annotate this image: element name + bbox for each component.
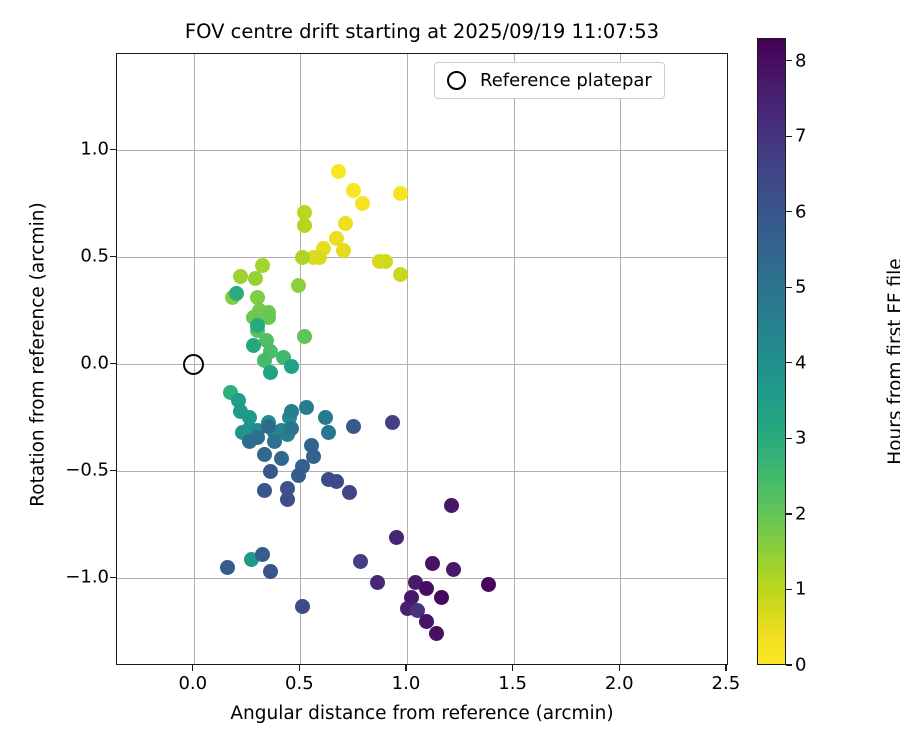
y-tick-label: 0.5 xyxy=(80,246,109,267)
gridline-vertical xyxy=(727,54,728,664)
gridline-horizontal xyxy=(117,471,727,472)
x-tick xyxy=(512,665,513,671)
x-tick xyxy=(725,665,726,671)
scatter-point xyxy=(299,400,314,415)
scatter-point xyxy=(291,468,306,483)
colorbar-tick-label: 0 xyxy=(795,655,806,676)
y-tick xyxy=(110,470,116,471)
scatter-point xyxy=(263,365,278,380)
scatter-point xyxy=(284,404,299,419)
scatter-point xyxy=(342,485,357,500)
reference-platepar-marker xyxy=(183,354,204,375)
gridline-horizontal xyxy=(117,364,727,365)
x-axis-label: Angular distance from reference (arcmin) xyxy=(116,703,728,724)
colorbar-tick-label: 2 xyxy=(795,503,806,524)
page-title: FOV centre drift starting at 2025/09/19 … xyxy=(116,20,728,43)
figure: FOV centre drift starting at 2025/09/19 … xyxy=(0,0,900,750)
scatter-point xyxy=(444,498,459,513)
x-tick xyxy=(192,665,193,671)
scatter-point xyxy=(419,581,434,596)
colorbar-label: Hours from first FF file xyxy=(885,48,900,675)
colorbar-tick xyxy=(786,438,792,439)
x-tick xyxy=(299,665,300,671)
scatter-point xyxy=(242,434,257,449)
scatter-point xyxy=(284,421,299,436)
colorbar-tick xyxy=(786,136,792,137)
legend-open-circle-icon xyxy=(447,71,466,90)
x-tick-label: 1.0 xyxy=(392,673,421,694)
scatter-point xyxy=(248,271,263,286)
y-tick xyxy=(110,363,116,364)
colorbar-tick xyxy=(786,664,792,665)
scatter-point xyxy=(446,562,461,577)
y-tick-label: 0.0 xyxy=(80,353,109,374)
scatter-point xyxy=(329,474,344,489)
scatter-point xyxy=(312,250,327,265)
y-axis-label: Rotation from reference (arcmin) xyxy=(28,49,49,661)
colorbar-tick xyxy=(786,287,792,288)
gridline-vertical xyxy=(620,54,621,664)
scatter-point xyxy=(297,218,312,233)
gridline-horizontal xyxy=(117,150,727,151)
y-tick xyxy=(110,256,116,257)
scatter-point xyxy=(284,359,299,374)
scatter-point xyxy=(429,626,444,641)
scatter-point xyxy=(263,464,278,479)
scatter-point xyxy=(393,186,408,201)
colorbar-tick xyxy=(786,211,792,212)
y-tick-label: −0.5 xyxy=(65,460,109,481)
colorbar xyxy=(757,38,786,665)
scatter-point xyxy=(336,243,351,258)
gridline-horizontal xyxy=(117,257,727,258)
y-tick xyxy=(110,577,116,578)
scatter-point xyxy=(229,286,244,301)
scatter-point xyxy=(378,254,393,269)
scatter-point xyxy=(233,269,248,284)
scatter-point xyxy=(280,492,295,507)
scatter-point xyxy=(481,577,496,592)
scatter-point xyxy=(331,164,346,179)
legend: Reference platepar xyxy=(434,62,665,99)
scatter-point xyxy=(385,415,400,430)
scatter-point xyxy=(321,425,336,440)
scatter-point xyxy=(295,250,310,265)
scatter-point xyxy=(295,599,310,614)
x-tick-label: 2.0 xyxy=(605,673,634,694)
scatter-point xyxy=(434,590,449,605)
x-tick-label: 2.5 xyxy=(712,673,741,694)
colorbar-tick xyxy=(786,513,792,514)
colorbar-tick xyxy=(786,589,792,590)
y-tick-label: 1.0 xyxy=(80,139,109,160)
colorbar-tick-label: 8 xyxy=(795,50,806,71)
scatter-point xyxy=(257,447,272,462)
gridline-vertical xyxy=(407,54,408,664)
x-tick-label: 0.0 xyxy=(178,673,207,694)
scatter-point xyxy=(263,564,278,579)
scatter-point xyxy=(355,196,370,211)
scatter-point xyxy=(346,419,361,434)
scatter-point xyxy=(393,267,408,282)
colorbar-tick-label: 7 xyxy=(795,126,806,147)
colorbar-tick xyxy=(786,60,792,61)
scatter-point xyxy=(338,216,353,231)
y-tick-label: −1.0 xyxy=(65,567,109,588)
scatter-point xyxy=(261,419,276,434)
scatter-point xyxy=(257,483,272,498)
legend-item-label: Reference platepar xyxy=(480,70,652,91)
colorbar-tick-label: 5 xyxy=(795,277,806,298)
x-tick xyxy=(619,665,620,671)
scatter-point xyxy=(255,547,270,562)
scatter-point xyxy=(318,410,333,425)
colorbar-tick xyxy=(786,362,792,363)
scatter-point xyxy=(246,338,261,353)
scatter-point xyxy=(267,434,282,449)
scatter-point xyxy=(389,530,404,545)
scatter-point xyxy=(274,451,289,466)
scatter-point xyxy=(297,329,312,344)
x-tick-label: 0.5 xyxy=(285,673,314,694)
gridline-vertical xyxy=(514,54,515,664)
scatter-point xyxy=(220,560,235,575)
plot-area xyxy=(116,53,728,665)
x-tick-label: 1.5 xyxy=(498,673,527,694)
scatter-point xyxy=(425,556,440,571)
scatter-point xyxy=(291,278,306,293)
colorbar-tick-label: 3 xyxy=(795,428,806,449)
x-tick xyxy=(405,665,406,671)
scatter-point xyxy=(353,554,368,569)
y-tick xyxy=(110,149,116,150)
gridline-vertical xyxy=(300,54,301,664)
colorbar-tick-label: 6 xyxy=(795,201,806,222)
scatter-point xyxy=(370,575,385,590)
colorbar-tick-label: 4 xyxy=(795,352,806,373)
colorbar-tick-label: 1 xyxy=(795,579,806,600)
